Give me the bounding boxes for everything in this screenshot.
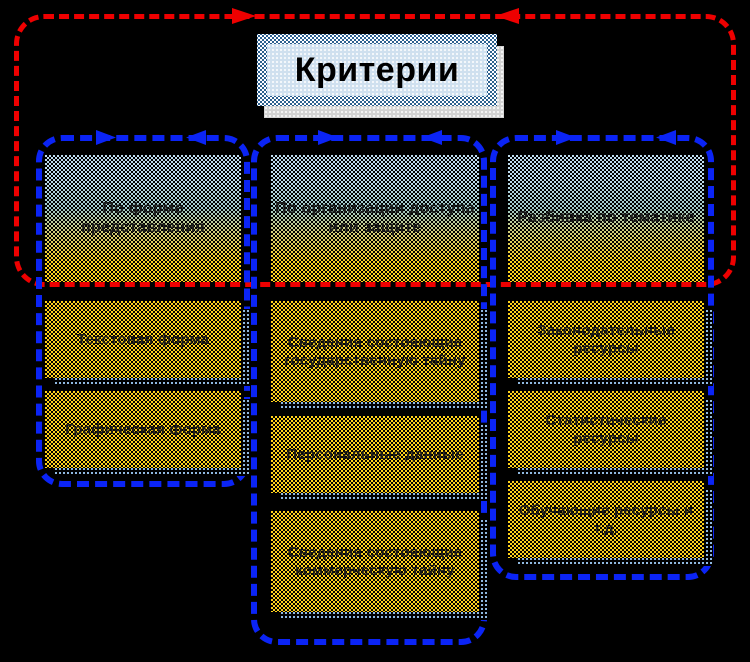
leaf-label: Обучающие ресурсы и т.д. bbox=[508, 502, 704, 537]
leaf-label: Текстовая форма bbox=[45, 331, 241, 349]
criterion-box-form[interactable]: По форме представления bbox=[45, 155, 241, 282]
criterion-label-topic: Разбивка по тематике bbox=[508, 209, 704, 228]
leaf-label: Законодательные ресурсы bbox=[508, 322, 704, 357]
criterion-label-form: По форме представления bbox=[45, 200, 241, 238]
leaf-label: Графическая форма bbox=[45, 421, 241, 439]
root-title-fill: Критерии bbox=[267, 44, 487, 96]
leaf-box-graficheskaya-forma[interactable]: Графическая форма bbox=[45, 391, 241, 468]
criterion-box-topic[interactable]: Разбивка по тематике bbox=[508, 155, 704, 282]
diagram-canvas: Критерии По форме представления Текстова… bbox=[0, 0, 750, 662]
leaf-box-statistical[interactable]: Статистические ресурсы bbox=[508, 391, 704, 468]
leaf-box-personal-data[interactable]: Персональные данные bbox=[271, 416, 479, 493]
leaf-box-commerce-secret[interactable]: Сведения состояющие коммерческую тайну bbox=[271, 511, 479, 612]
criterion-label-access: По организации доступа или защите bbox=[271, 200, 479, 238]
criterion-box-access[interactable]: По организации доступа или защите bbox=[271, 155, 479, 282]
leaf-box-textovaya-forma[interactable]: Текстовая форма bbox=[45, 301, 241, 378]
leaf-label: Сведения состояющие государственную тайн… bbox=[271, 334, 479, 369]
root-title-box[interactable]: Критерии bbox=[257, 34, 497, 106]
leaf-box-educational[interactable]: Обучающие ресурсы и т.д. bbox=[508, 481, 704, 558]
leaf-box-legislative[interactable]: Законодательные ресурсы bbox=[508, 301, 704, 378]
page-title: Критерии bbox=[295, 51, 460, 90]
leaf-box-gostayna[interactable]: Сведения состояющие государственную тайн… bbox=[271, 301, 479, 402]
leaf-label: Персональные данные bbox=[271, 446, 479, 464]
leaf-label: Сведения состояющие коммерческую тайну bbox=[271, 544, 479, 579]
leaf-label: Статистические ресурсы bbox=[508, 412, 704, 447]
